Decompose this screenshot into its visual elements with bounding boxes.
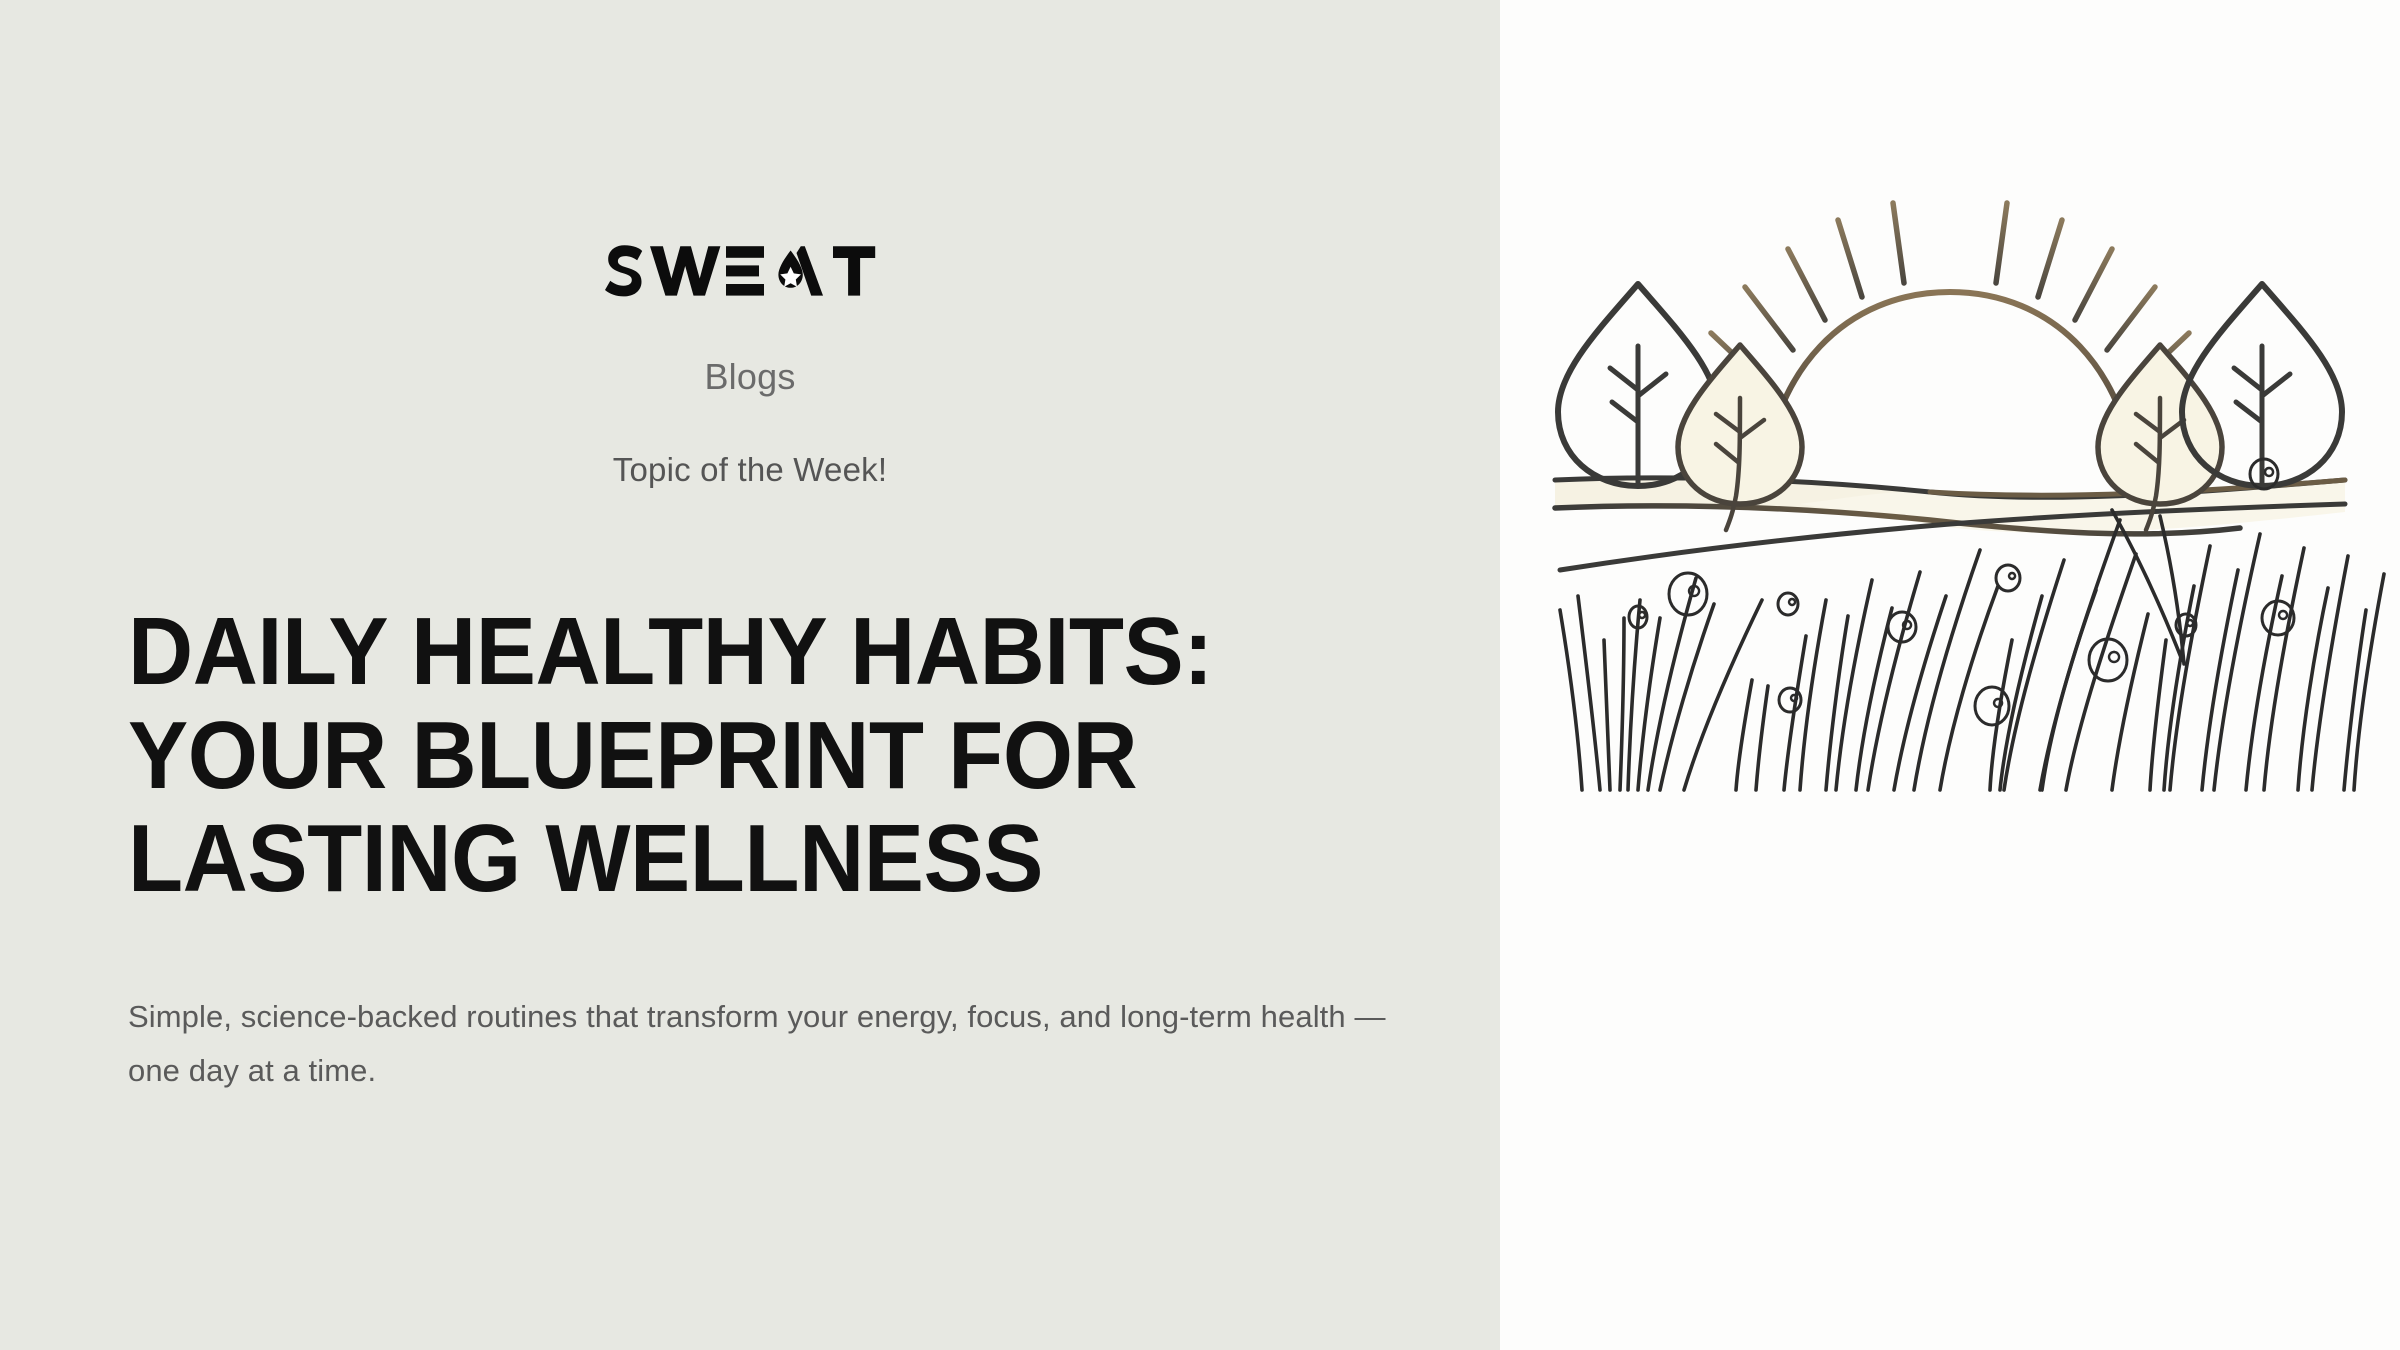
blog-hero-page: Blogs Topic of the Week! DAILY HEALTHY H… [0, 0, 2400, 1350]
sweat-logo[interactable] [590, 242, 910, 304]
page-title: DAILY HEALTHY HABITS: YOUR BLUEPRINT FOR… [128, 600, 1341, 911]
eyebrow-blogs: Blogs [0, 309, 1500, 398]
headline-text: DAILY HEALTHY HABITS: YOUR BLUEPRINT FOR… [128, 598, 1213, 912]
illustration-panel [1500, 0, 2400, 1350]
sunrise-landscape-illustration [1500, 0, 2400, 1350]
content-panel: Blogs Topic of the Week! DAILY HEALTHY H… [0, 0, 1500, 1350]
page-subtitle: Simple, science-backed routines that tra… [128, 990, 1418, 1099]
sweat-logo-mark [590, 242, 910, 304]
brand-block: Blogs Topic of the Week! [0, 242, 1500, 490]
sun-arc [1762, 292, 2138, 500]
eyebrow-topic-of-the-week: Topic of the Week! [0, 398, 1500, 490]
